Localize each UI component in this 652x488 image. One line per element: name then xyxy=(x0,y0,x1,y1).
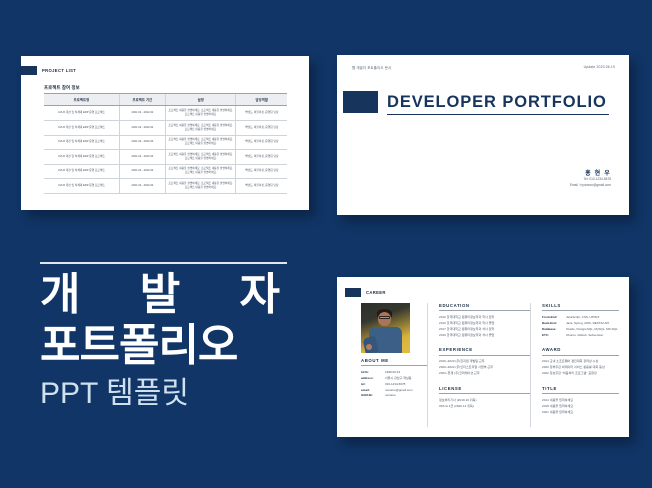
skill-item: ETC:Ubuntu, GitHub, Subversion xyxy=(542,333,619,339)
cover-update-label: Update 2023.06.19 xyxy=(584,65,615,69)
project-role: 백엔드, 퍼블리싱, 운영팀 담당 xyxy=(236,179,287,194)
award-line: 2022 정보주관 "처음처리 프로그램" 표창장 xyxy=(542,371,619,377)
project-name: UI/UX 개선 및 차세대 ERP 운영 프로젝트 xyxy=(44,150,119,165)
experience-title: EXPERIENCE xyxy=(439,347,530,355)
award-title: AWARD xyxy=(542,347,619,355)
hero-char: 자 xyxy=(240,273,280,317)
project-name: UI/UX 개선 및 차세대 ERP 운영 프로젝트 xyxy=(44,164,119,179)
profile-photo xyxy=(361,303,410,353)
table-row: UI/UX 개선 및 차세대 ERP 운영 프로젝트2021.02 - 2022… xyxy=(44,164,287,179)
project-desc: 프로젝트 내용을 설명하세요. 프로젝트 내용을 설명하세요. 프로젝트 내용을… xyxy=(165,179,235,194)
project-desc: 프로젝트 내용을 설명하세요. 프로젝트 내용을 설명하세요. 프로젝트 내용을… xyxy=(165,164,235,179)
table-row: UI/UX 개선 및 차세대 ERP 운영 프로젝트2021.02 - 2022… xyxy=(44,106,287,121)
project-table: 프로젝트명 프로젝트 기간 설명 담당역할 UI/UX 개선 및 차세대 ERP… xyxy=(44,93,287,194)
project-desc: 프로젝트 내용을 설명하세요. 프로젝트 내용을 설명하세요. 프로젝트 내용을… xyxy=(165,106,235,121)
table-header-row: 프로젝트명 프로젝트 기간 설명 담당역할 xyxy=(44,94,287,106)
project-name: UI/UX 개선 및 차세대 ERP 운영 프로젝트 xyxy=(44,120,119,135)
career-section-label: CAREER xyxy=(366,290,386,295)
table-row: UI/UX 개선 및 차세대 ERP 운영 프로젝트2021.02 - 2022… xyxy=(44,150,287,165)
project-desc: 프로젝트 내용을 설명하세요. 프로젝트 내용을 설명하세요. 프로젝트 내용을… xyxy=(165,150,235,165)
skills-title: SKILLS xyxy=(542,303,619,311)
table-row: UI/UX 개선 및 차세대 ERP 운영 프로젝트2021.02 - 2022… xyxy=(44,135,287,150)
project-section-header: PROJECT LIST xyxy=(21,66,76,75)
hero-char: 개 xyxy=(40,273,80,317)
project-desc: 프로젝트 내용을 설명하세요. 프로젝트 내용을 설명하세요. 프로젝트 내용을… xyxy=(165,120,235,135)
education-block: EDUCATION 2012 한국대학교 컴퓨터정보학과 학사 입학2016 한… xyxy=(439,303,530,338)
project-desc: 프로젝트 내용을 설명하세요. 프로젝트 내용을 설명하세요. 프로젝트 내용을… xyxy=(165,135,235,150)
skill-item-value: Ubuntu, GitHub, Subversion xyxy=(566,333,603,339)
glasses-icon xyxy=(379,316,390,319)
table-col-desc: 설명 xyxy=(165,94,235,106)
experience-block: EXPERIENCE 2016~2020 (주)한지컴 개발팀 근무2020~2… xyxy=(439,347,530,377)
license-block: LICENSE 정보처리기사 (2019.10 취득)OPIcA 1급 (202… xyxy=(439,386,530,410)
cover-doc-label: 웹 개발자 포트폴리오 문서 xyxy=(352,65,391,70)
table-col-period: 프로젝트 기간 xyxy=(119,94,165,106)
education-line: 2019 한국대학교 컴퓨터정보학과 석사 졸업 xyxy=(439,333,530,339)
slide-project-list[interactable]: PROJECT LIST 프로젝트 참여 정보 프로젝트명 프로젝트 기간 설명… xyxy=(21,56,309,210)
hero-line-2: 포트폴리오 xyxy=(40,321,310,370)
project-period: 2021.02 - 2022.02 xyxy=(119,106,165,121)
career-section-header: CAREER xyxy=(345,288,386,297)
education-title: EDUCATION xyxy=(439,303,530,311)
license-line: OPIcA 1급 (2020.12 취득) xyxy=(439,404,530,410)
experience-line: 2023~현재 (주)코퍼레이션 근무 xyxy=(439,371,530,377)
hero-line-3: PPT 템플릿 xyxy=(40,377,310,412)
title-line: 2021 내용을 입력하세요 xyxy=(542,410,619,416)
project-role: 백엔드, 퍼블리싱, 운영팀 담당 xyxy=(236,150,287,165)
title-block: TITLE 2014 내용을 입력하세요2018 내용을 입력하세요2021 내… xyxy=(542,386,619,416)
project-role: 백엔드, 퍼블리싱, 운영팀 담당 xyxy=(236,120,287,135)
project-table-caption: 프로젝트 참여 정보 xyxy=(44,85,80,91)
hero-line-1: 개발자 xyxy=(40,273,280,317)
slide-career[interactable]: CAREER ABOUT ME birth:1999.09.23address:… xyxy=(337,277,629,437)
award-block: AWARD 2014 교내 소프트웨어 경진대회 장려상 수상2020 정부주관… xyxy=(542,347,619,377)
cover-title: DEVELOPER PORTFOLIO xyxy=(387,93,607,112)
title-block-title: TITLE xyxy=(542,386,619,394)
table-col-role: 담당역할 xyxy=(236,94,287,106)
cover-email: Email : hyunwoo@gmail.com xyxy=(570,183,611,189)
cover-divider xyxy=(387,114,609,115)
cover-contact: Tel: 010-1234-5678 Email : hyunwoo@gmail… xyxy=(570,177,611,188)
photo-hand xyxy=(366,344,372,350)
license-title: LICENSE xyxy=(439,386,530,394)
project-name: UI/UX 개선 및 차세대 ERP 운영 프로젝트 xyxy=(44,179,119,194)
skills-block: SKILLS Front-End:JavaScript, CSS, HTML5B… xyxy=(542,303,619,338)
hero-text-group: 개발자 포트폴리오 PPT 템플릿 xyxy=(40,262,310,412)
table-row: UI/UX 개선 및 차세대 ERP 운영 프로젝트2021.02 - 2022… xyxy=(44,179,287,194)
project-period: 2021.02 - 2022.02 xyxy=(119,135,165,150)
project-name: UI/UX 개선 및 차세대 ERP 운영 프로젝트 xyxy=(44,106,119,121)
project-period: 2021.02 - 2022.02 xyxy=(119,150,165,165)
about-item-value: noname xyxy=(385,393,396,399)
hero-divider xyxy=(40,262,287,264)
project-period: 2021.02 - 2022.02 xyxy=(119,120,165,135)
cover-accent-block xyxy=(343,91,378,113)
photo-head xyxy=(378,312,391,326)
about-item: GitHUB:noname xyxy=(361,393,427,399)
project-period: 2021.02 - 2022.02 xyxy=(119,179,165,194)
table-row: UI/UX 개선 및 차세대 ERP 운영 프로젝트2021.02 - 2022… xyxy=(44,120,287,135)
project-section-label: PROJECT LIST xyxy=(42,68,76,73)
section-badge-icon xyxy=(21,66,37,75)
hero-char: 발 xyxy=(140,273,180,317)
table-col-name: 프로젝트명 xyxy=(44,94,119,106)
project-role: 백엔드, 퍼블리싱, 운영팀 담당 xyxy=(236,164,287,179)
project-period: 2021.02 - 2022.02 xyxy=(119,164,165,179)
about-me-block: ABOUT ME birth:1999.09.23address:서울시 강남구… xyxy=(361,358,427,399)
project-role: 백엔드, 퍼블리싱, 운영팀 담당 xyxy=(236,106,287,121)
slide-cover[interactable]: 웹 개발자 포트폴리오 문서 Update 2023.06.19 DEVELOP… xyxy=(337,55,629,215)
section-badge-icon xyxy=(345,288,361,297)
about-me-title: ABOUT ME xyxy=(361,358,427,366)
skill-item-key: ETC: xyxy=(542,333,563,339)
project-role: 백엔드, 퍼블리싱, 운영팀 담당 xyxy=(236,135,287,150)
cover-author-name: 홍 현 우 xyxy=(585,168,611,177)
project-name: UI/UX 개선 및 차세대 ERP 운영 프로젝트 xyxy=(44,135,119,150)
about-item-key: GitHUB: xyxy=(361,393,382,399)
